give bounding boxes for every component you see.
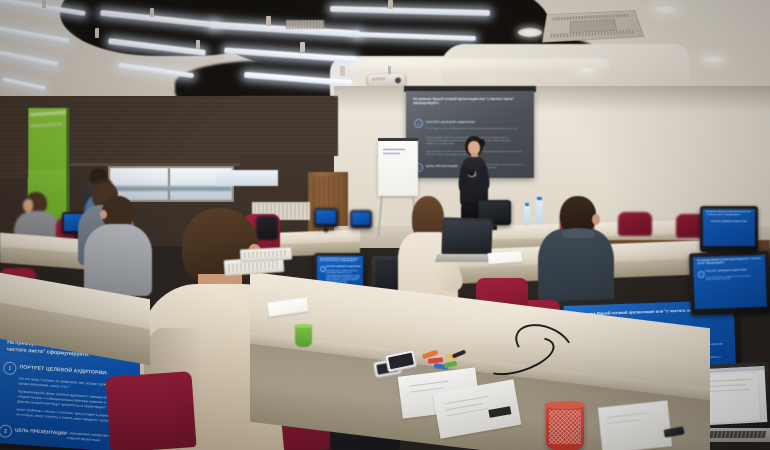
monitor-back-right-screen	[352, 212, 370, 225]
monitor-right-mid-screen: На примере Вашей готовой презентации или…	[703, 209, 755, 246]
laptop-cream-woman-screen	[444, 220, 489, 253]
presenter-phone	[468, 166, 475, 176]
monitor-mid-1-head-1: ПОРТРЕТ ЦЕЛЕВОЙ АУДИТОРИИ:	[326, 266, 362, 268]
monitor-back-center-stand	[324, 227, 328, 232]
window-upper-left	[216, 170, 278, 186]
water-bottle-right	[536, 200, 543, 224]
front-monitor-stand	[492, 225, 497, 230]
laptop-cream-woman	[441, 217, 492, 257]
cup-red-rim	[544, 401, 586, 409]
water-bottle-front	[524, 206, 530, 226]
student-navy-ear	[592, 214, 600, 225]
ceiling-tube-mount-5	[266, 16, 271, 26]
keyboard-mid-2	[240, 247, 293, 263]
ceiling-vent-small	[286, 20, 324, 29]
monitor-right-upper-head: ПОРТРЕТ ЦЕЛЕВОЙ АУДИТОРИИ:	[706, 269, 762, 273]
paper-3-line-2	[607, 419, 641, 424]
ceiling-tube-mount-2	[95, 28, 99, 38]
flipchart-paper	[378, 140, 418, 196]
ac-cassette	[542, 10, 644, 42]
phone-center-screen	[388, 353, 414, 370]
wall-front-shadow	[334, 86, 770, 112]
cup-green	[295, 325, 312, 347]
monitor-right-upper: На примере Вашей готовой презентации или…	[689, 251, 770, 316]
ceiling-tube-mount-3	[150, 8, 154, 17]
chair-rear-right-2	[618, 212, 652, 236]
cup-green-rim	[294, 324, 313, 328]
paper-1-line-1	[409, 381, 449, 387]
monitor-mid-1-slide-title: На примере Вашей готовой презентации или…	[320, 258, 361, 263]
monitor-back-right	[350, 210, 372, 228]
classroom-photo: На примере Вашей готовой презентации или…	[0, 0, 770, 450]
ceiling-tube-mount-4	[196, 40, 200, 49]
ceiling-tube-mount-6	[300, 42, 305, 52]
flipchart-clip	[378, 138, 418, 141]
keyboard-mid-2-keys	[244, 250, 288, 258]
ceiling-tube-mount-8	[388, 0, 393, 9]
downlight-2	[518, 28, 542, 37]
water-bottle-cap-right	[537, 197, 542, 200]
paper-3-line-1	[607, 413, 647, 419]
projector-lens	[395, 77, 401, 83]
cup-red-pattern	[549, 410, 581, 444]
water-bottle-cap-front	[525, 203, 529, 206]
ceiling-tube-mount-1	[42, 0, 46, 8]
paper-mid-desk	[488, 251, 523, 264]
monitor-right-upper-bul: Кто эти люди / человек, их профессии, по…	[706, 276, 762, 283]
downlight-1	[650, 4, 680, 15]
monitor-mid-1-bul-1: Кто эти люди / человек, их профессии, по…	[326, 271, 362, 275]
monitor-right-mid-title: На примере Вашей готовой презентации или…	[706, 211, 752, 216]
monitor-right-mid: На примере Вашей готовой презентации или…	[700, 206, 758, 252]
window-blind-left	[0, 104, 28, 178]
window-blind-right	[238, 96, 338, 156]
downlight-3	[700, 55, 726, 64]
downlight-4	[576, 66, 598, 74]
ac-cassette-grille-bottom	[550, 30, 634, 38]
paper-2-block	[488, 406, 511, 418]
presenter-hair-bun	[479, 139, 485, 147]
monitor-right-upper-num: 1	[698, 271, 705, 278]
projector-vent	[372, 77, 386, 81]
window-blind-main	[70, 100, 240, 166]
ceiling-tube-mount-7	[340, 66, 345, 76]
student-greyblue-mid-ear	[100, 210, 107, 219]
monitor-back-center	[314, 208, 338, 227]
flipchart-handwriting-2	[383, 153, 400, 154]
monitor-back-center-screen	[316, 210, 336, 224]
paper-handout-3	[598, 400, 672, 450]
cup-red	[546, 404, 584, 450]
keyboard-mid-keys	[228, 260, 280, 272]
monitor-right-upper-screen: На примере Вашей готовой презентации или…	[693, 255, 767, 309]
window-mullion	[168, 168, 170, 200]
chair-foreground-1	[105, 371, 196, 450]
monitor-right-mid-head: ПОРТРЕТ ЦЕЛЕВОЙ АУДИТОРИИ:	[711, 221, 751, 223]
student-navy-collar	[562, 228, 594, 238]
monitor-right-upper-title: На примере Вашей готовой презентации или…	[697, 258, 761, 266]
flipchart-handwriting-1	[383, 149, 405, 150]
